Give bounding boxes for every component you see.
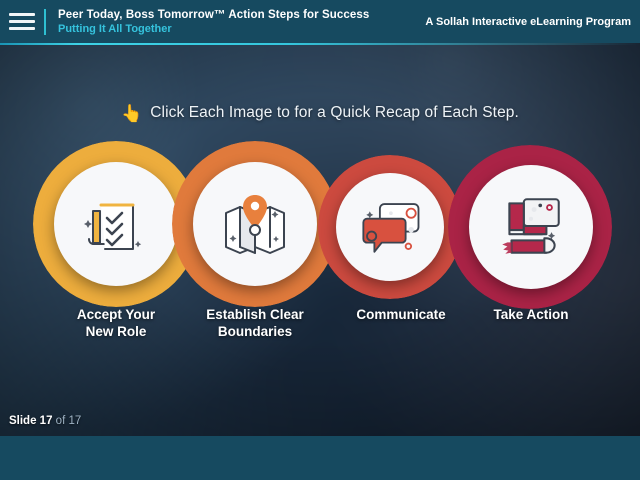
instruction-line: 👆 Click Each Image to for a Quick Recap … [0,104,640,122]
slide-counter: Slide 17 of 17 [9,415,81,427]
step-4-image[interactable] [469,165,593,289]
step-2-image[interactable] [193,162,317,286]
map-pin-icon [218,187,292,261]
hamburger-icon[interactable] [0,0,44,43]
hamburger-bar-2 [9,20,35,23]
speech-bubbles-icon [356,193,424,261]
header-accent-rule [0,43,640,45]
checklist-icon [79,187,153,261]
instruction-text: Click Each Image to for a Quick Recap of… [150,104,519,122]
hamburger-bar-1 [9,13,35,16]
step-1-image[interactable] [54,162,178,286]
lesson-subtitle: Putting It All Together [58,22,369,36]
slide-counter-current: Slide 17 [9,415,52,427]
steps-row: Accept Your New Role [0,137,640,387]
player-header: Peer Today, Boss Tomorrow™ Action Steps … [0,0,640,43]
step-4-label[interactable]: Take Action [426,306,636,323]
slide-canvas: 👆 Click Each Image to for a Quick Recap … [0,42,640,436]
header-divider [44,9,46,35]
pointing-hand-icon: 👆 [121,105,142,122]
hamburger-bar-3 [9,27,35,30]
flag-hand-icon [493,189,569,265]
course-title: Peer Today, Boss Tomorrow™ Action Steps … [58,8,369,22]
header-titles: Peer Today, Boss Tomorrow™ Action Steps … [58,8,369,36]
player-window: 👆 Click Each Image to for a Quick Recap … [0,0,640,480]
step-3-image[interactable] [336,173,444,281]
slide-counter-total: of 17 [56,415,82,427]
program-credit: A Sollah Interactive eLearning Program [425,16,631,28]
